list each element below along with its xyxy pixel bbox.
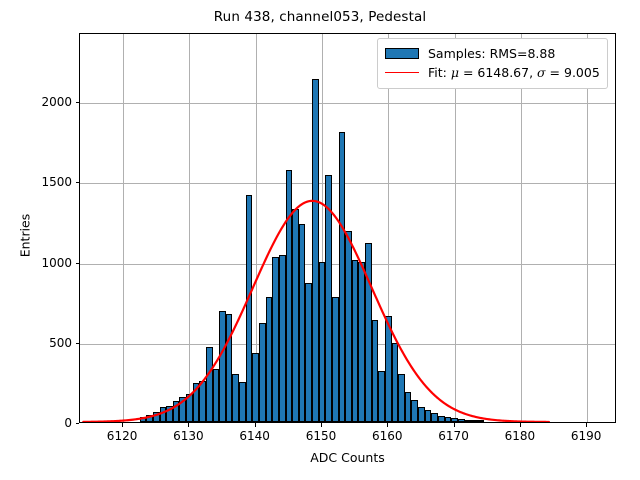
sigma-symbol: σ <box>537 65 546 80</box>
x-tick-mark <box>454 423 455 427</box>
y-tick-mark <box>76 102 80 103</box>
gaussian-fit-curve <box>80 34 615 422</box>
legend-label-fit: Fit: μ = 6148.67, σ = 9.005 <box>428 65 600 80</box>
x-tick-mark <box>321 423 322 427</box>
x-tick-label: 6140 <box>239 429 270 443</box>
y-axis-label: Entries <box>18 186 33 286</box>
x-tick-label: 6160 <box>372 429 403 443</box>
y-tick-mark <box>76 343 80 344</box>
x-tick-label: 6120 <box>107 429 138 443</box>
x-tick-label: 6180 <box>505 429 536 443</box>
y-tick-mark <box>76 182 80 183</box>
x-tick-label: 6130 <box>173 429 204 443</box>
x-tick-label: 6170 <box>438 429 469 443</box>
y-tick-label: 0 <box>64 416 72 430</box>
chart-legend: Samples: RMS=8.88 Fit: μ = 6148.67, σ = … <box>377 38 608 89</box>
y-tick-label: 1500 <box>41 175 72 189</box>
legend-fit-prefix: Fit: <box>428 65 451 80</box>
x-tick-mark <box>520 423 521 427</box>
x-tick-mark <box>387 423 388 427</box>
x-tick-mark <box>122 423 123 427</box>
x-tick-label: 6150 <box>306 429 337 443</box>
legend-item-fit: Fit: μ = 6148.67, σ = 9.005 <box>385 63 600 82</box>
y-tick-mark <box>76 423 80 424</box>
legend-label-samples: Samples: RMS=8.88 <box>428 46 555 61</box>
x-tick-mark <box>586 423 587 427</box>
page-title: Run 438, channel053, Pedestal <box>0 9 640 25</box>
y-tick-label: 1000 <box>41 256 72 270</box>
y-tick-label: 2000 <box>41 95 72 109</box>
mu-symbol: μ <box>451 65 459 80</box>
y-tick-label: 500 <box>49 336 72 350</box>
legend-fit-mu-value: = 6148.67, <box>459 65 537 80</box>
legend-patch-icon <box>385 48 419 59</box>
x-tick-mark <box>188 423 189 427</box>
x-axis-label: ADC Counts <box>79 450 616 465</box>
plot-area <box>79 33 616 423</box>
x-tick-label: 6190 <box>571 429 602 443</box>
figure-canvas: Run 438, channel053, Pedestal 6120613061… <box>0 0 640 480</box>
legend-line-icon <box>385 72 419 73</box>
legend-fit-sigma-value: = 9.005 <box>546 65 600 80</box>
legend-item-samples: Samples: RMS=8.88 <box>385 44 600 63</box>
x-tick-mark <box>255 423 256 427</box>
y-tick-mark <box>76 263 80 264</box>
